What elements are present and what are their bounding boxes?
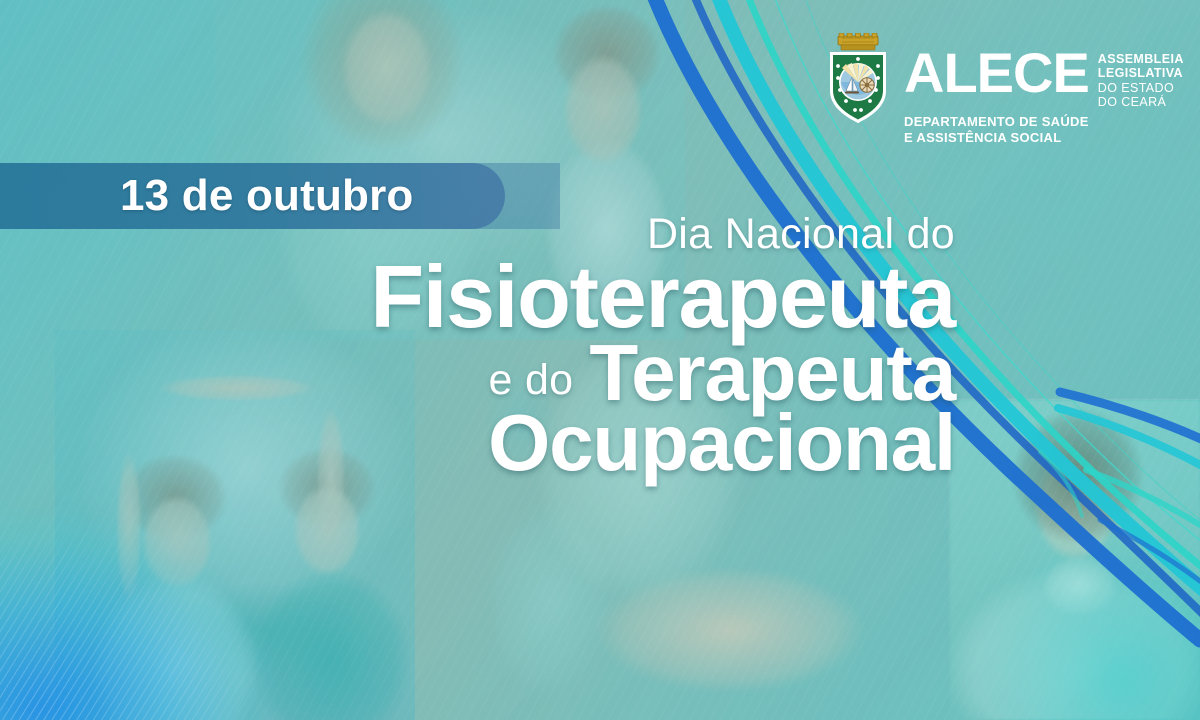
logo-text-group: ALECE ASSEMBLEIA LEGISLATIVA DO ESTADO D…: [904, 33, 1184, 146]
headline-line-4: Ocupacional: [488, 403, 955, 483]
department-block: DEPARTAMENTO DE SAÚDE E ASSISTÊNCIA SOCI…: [904, 114, 1184, 146]
dept-line-1: DEPARTAMENTO DE SAÚDE: [904, 114, 1184, 130]
headline-line-3-prefix: e do: [489, 359, 574, 402]
crown-icon: [838, 33, 878, 50]
org-line-2: LEGISLATIVA: [1098, 66, 1184, 80]
org-line-4: DO CEARÁ: [1098, 95, 1184, 109]
org-line-1: ASSEMBLEIA: [1098, 52, 1184, 66]
alece-wordmark: ALECE: [904, 49, 1089, 97]
org-line-3: DO ESTADO: [1098, 81, 1184, 95]
dept-line-2: E ASSISTÊNCIA SOCIAL: [904, 130, 1184, 146]
poster-canvas: 13 de outubro Dia Nacional do Fisioterap…: [0, 0, 1200, 720]
headline-block: Dia Nacional do Fisioterapeuta e do Tera…: [0, 210, 1000, 483]
water-wheel-icon: [860, 78, 874, 92]
alece-logo-lockup: ALECE ASSEMBLEIA LEGISLATIVA DO ESTADO D…: [822, 33, 1184, 146]
ceara-coat-of-arms-icon: [822, 33, 894, 125]
org-name-block: ASSEMBLEIA LEGISLATIVA DO ESTADO DO CEAR…: [1098, 49, 1184, 109]
